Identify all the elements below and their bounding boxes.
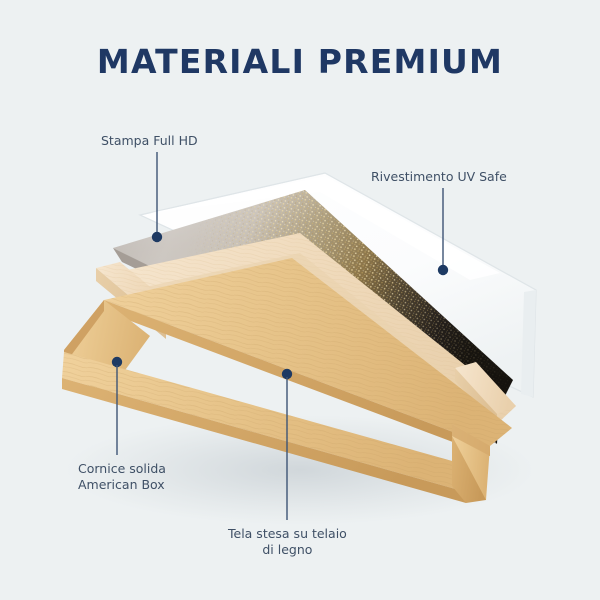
product-feature-graphic: MATERIALI PREMIUM: [0, 0, 600, 600]
callout-dot-uv: [438, 265, 448, 275]
callout-leader-stampa: [152, 152, 162, 242]
callout-label-tela-stesa-su-telaio: Tela stesa su telaio di legno: [228, 526, 347, 558]
exploded-product-illustration: [0, 0, 600, 600]
callout-label-stampa-full-hd: Stampa Full HD: [101, 133, 198, 149]
callout-dot-stampa: [152, 232, 162, 242]
callout-label-cornice-solida-american-box: Cornice solida American Box: [78, 461, 166, 493]
callout-label-rivestimento-uv-safe: Rivestimento UV Safe: [371, 169, 507, 185]
